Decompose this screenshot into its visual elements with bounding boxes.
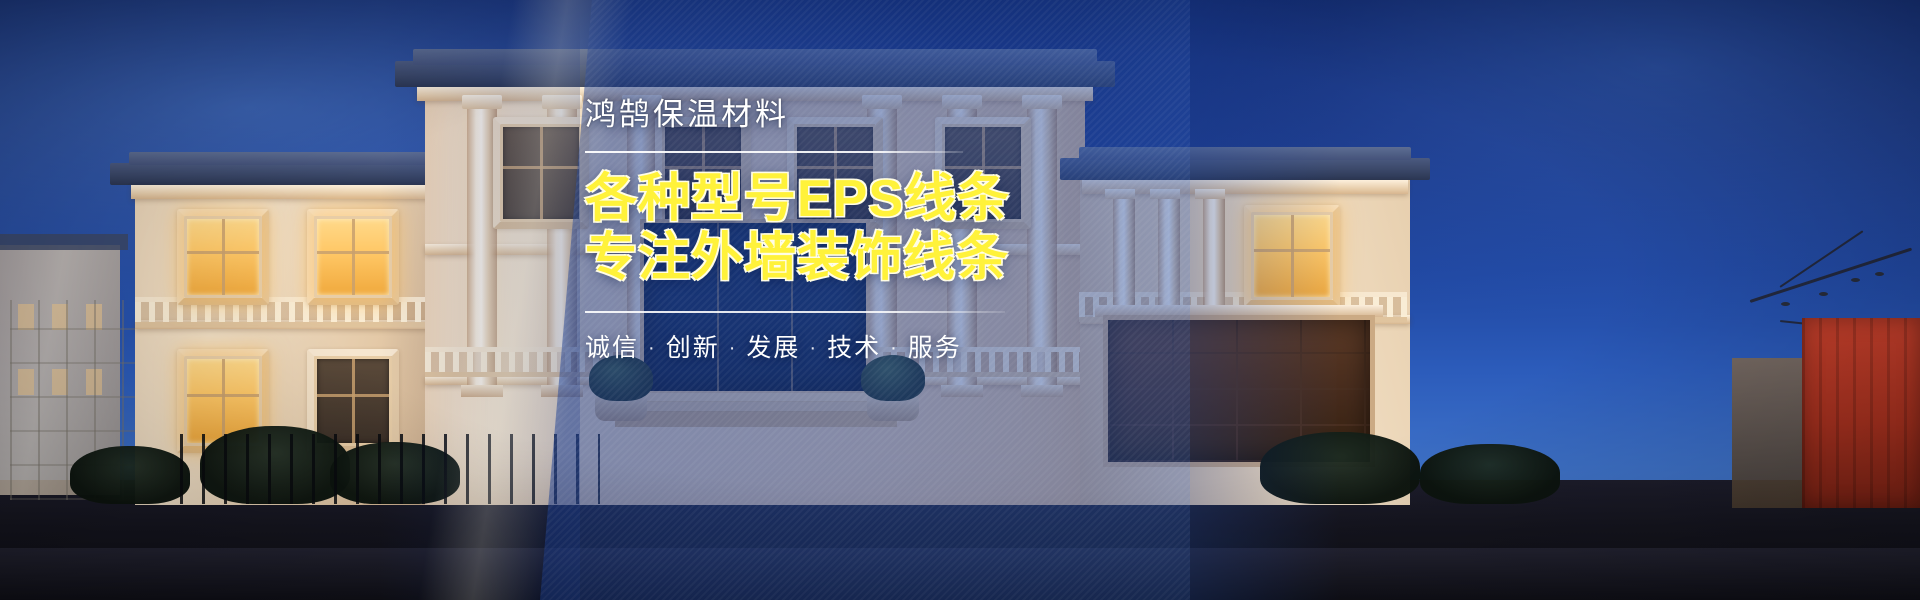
brand-name: 鸿鹄保温材料 [585, 98, 1185, 132]
tagline: 诚信·创新·发展·技术·服务 [585, 328, 1185, 364]
tagline-item: 服务 [908, 334, 962, 362]
red-container [1802, 318, 1920, 508]
tagline-item: 技术 [827, 334, 881, 362]
overlay-right-gradient [1190, 0, 1340, 600]
tagline-separator: · [720, 337, 747, 359]
tagline-separator: · [800, 337, 827, 359]
tagline-separator: · [881, 337, 908, 359]
tagline-item: 发展 [746, 334, 800, 362]
tagline-item: 创新 [666, 334, 720, 362]
side-wall [1732, 358, 1802, 508]
headline-line-2: 专注外墙装饰线条 [585, 229, 1185, 288]
headline-line-1: 各种型号EPS线条 [585, 170, 1185, 229]
tagline-item: 诚信 [585, 334, 639, 362]
tagline-separator: · [639, 337, 666, 359]
banner-text-block: 鸿鹄保温材料 各种型号EPS线条 专注外墙装饰线条 诚信·创新·发展·技术·服务 [585, 98, 1185, 364]
hero-banner: 鸿鹄保温材料 各种型号EPS线条 专注外墙装饰线条 诚信·创新·发展·技术·服务 [0, 0, 1920, 600]
divider-top [585, 151, 963, 153]
divider-bottom [585, 311, 1005, 313]
